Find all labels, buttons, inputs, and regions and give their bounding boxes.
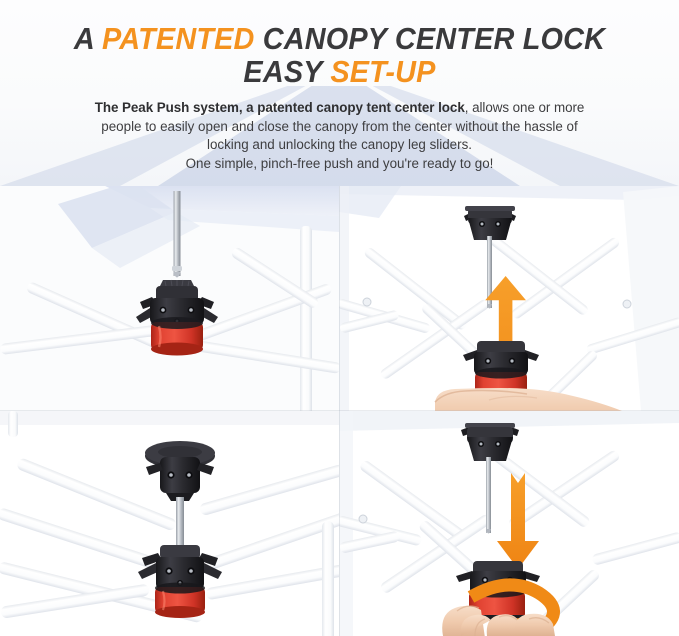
red-lock-base — [151, 317, 203, 356]
headline-line-1-pre: A — [74, 21, 102, 56]
product-photo-grid — [0, 186, 679, 636]
headline-line-2: EASY SET-UP — [24, 55, 655, 88]
headline-line-1-highlight: PATENTED — [102, 21, 255, 56]
red-lock-base — [155, 583, 205, 619]
description-line-1-bold: The Peak Push system, a patented canopy … — [95, 100, 465, 115]
panel-bottom-right[interactable] — [339, 411, 679, 636]
headline-line-1-post: CANOPY CENTER LOCK — [255, 21, 606, 56]
description-block: The Peak Push system, a patented canopy … — [0, 99, 679, 173]
description-line-1: The Peak Push system, a patented canopy … — [34, 99, 645, 118]
panel-top-left[interactable] — [0, 186, 339, 411]
panel-bottom-left[interactable] — [0, 411, 339, 636]
description-line-3: locking and unlocking the canopy leg sli… — [34, 136, 645, 155]
headline-line-2-pre: EASY — [243, 54, 330, 89]
push-rod — [176, 497, 184, 549]
headline-line-2-highlight: SET-UP — [330, 54, 435, 89]
headline-line-1: A PATENTED CANOPY CENTER LOCK — [24, 22, 655, 55]
push-rod — [486, 457, 491, 534]
description-line-2: people to easily open and close the cano… — [34, 118, 645, 137]
description-line-1-rest: , allows one or more — [465, 100, 585, 115]
description-line-4: One simple, pinch-free push and you're r… — [34, 155, 645, 174]
headline-block: A PATENTED CANOPY CENTER LOCK EASY SET-U… — [0, 0, 679, 88]
header-banner: A PATENTED CANOPY CENTER LOCK EASY SET-U… — [0, 0, 679, 186]
panel-top-right[interactable] — [339, 186, 679, 411]
push-rod — [172, 191, 182, 278]
